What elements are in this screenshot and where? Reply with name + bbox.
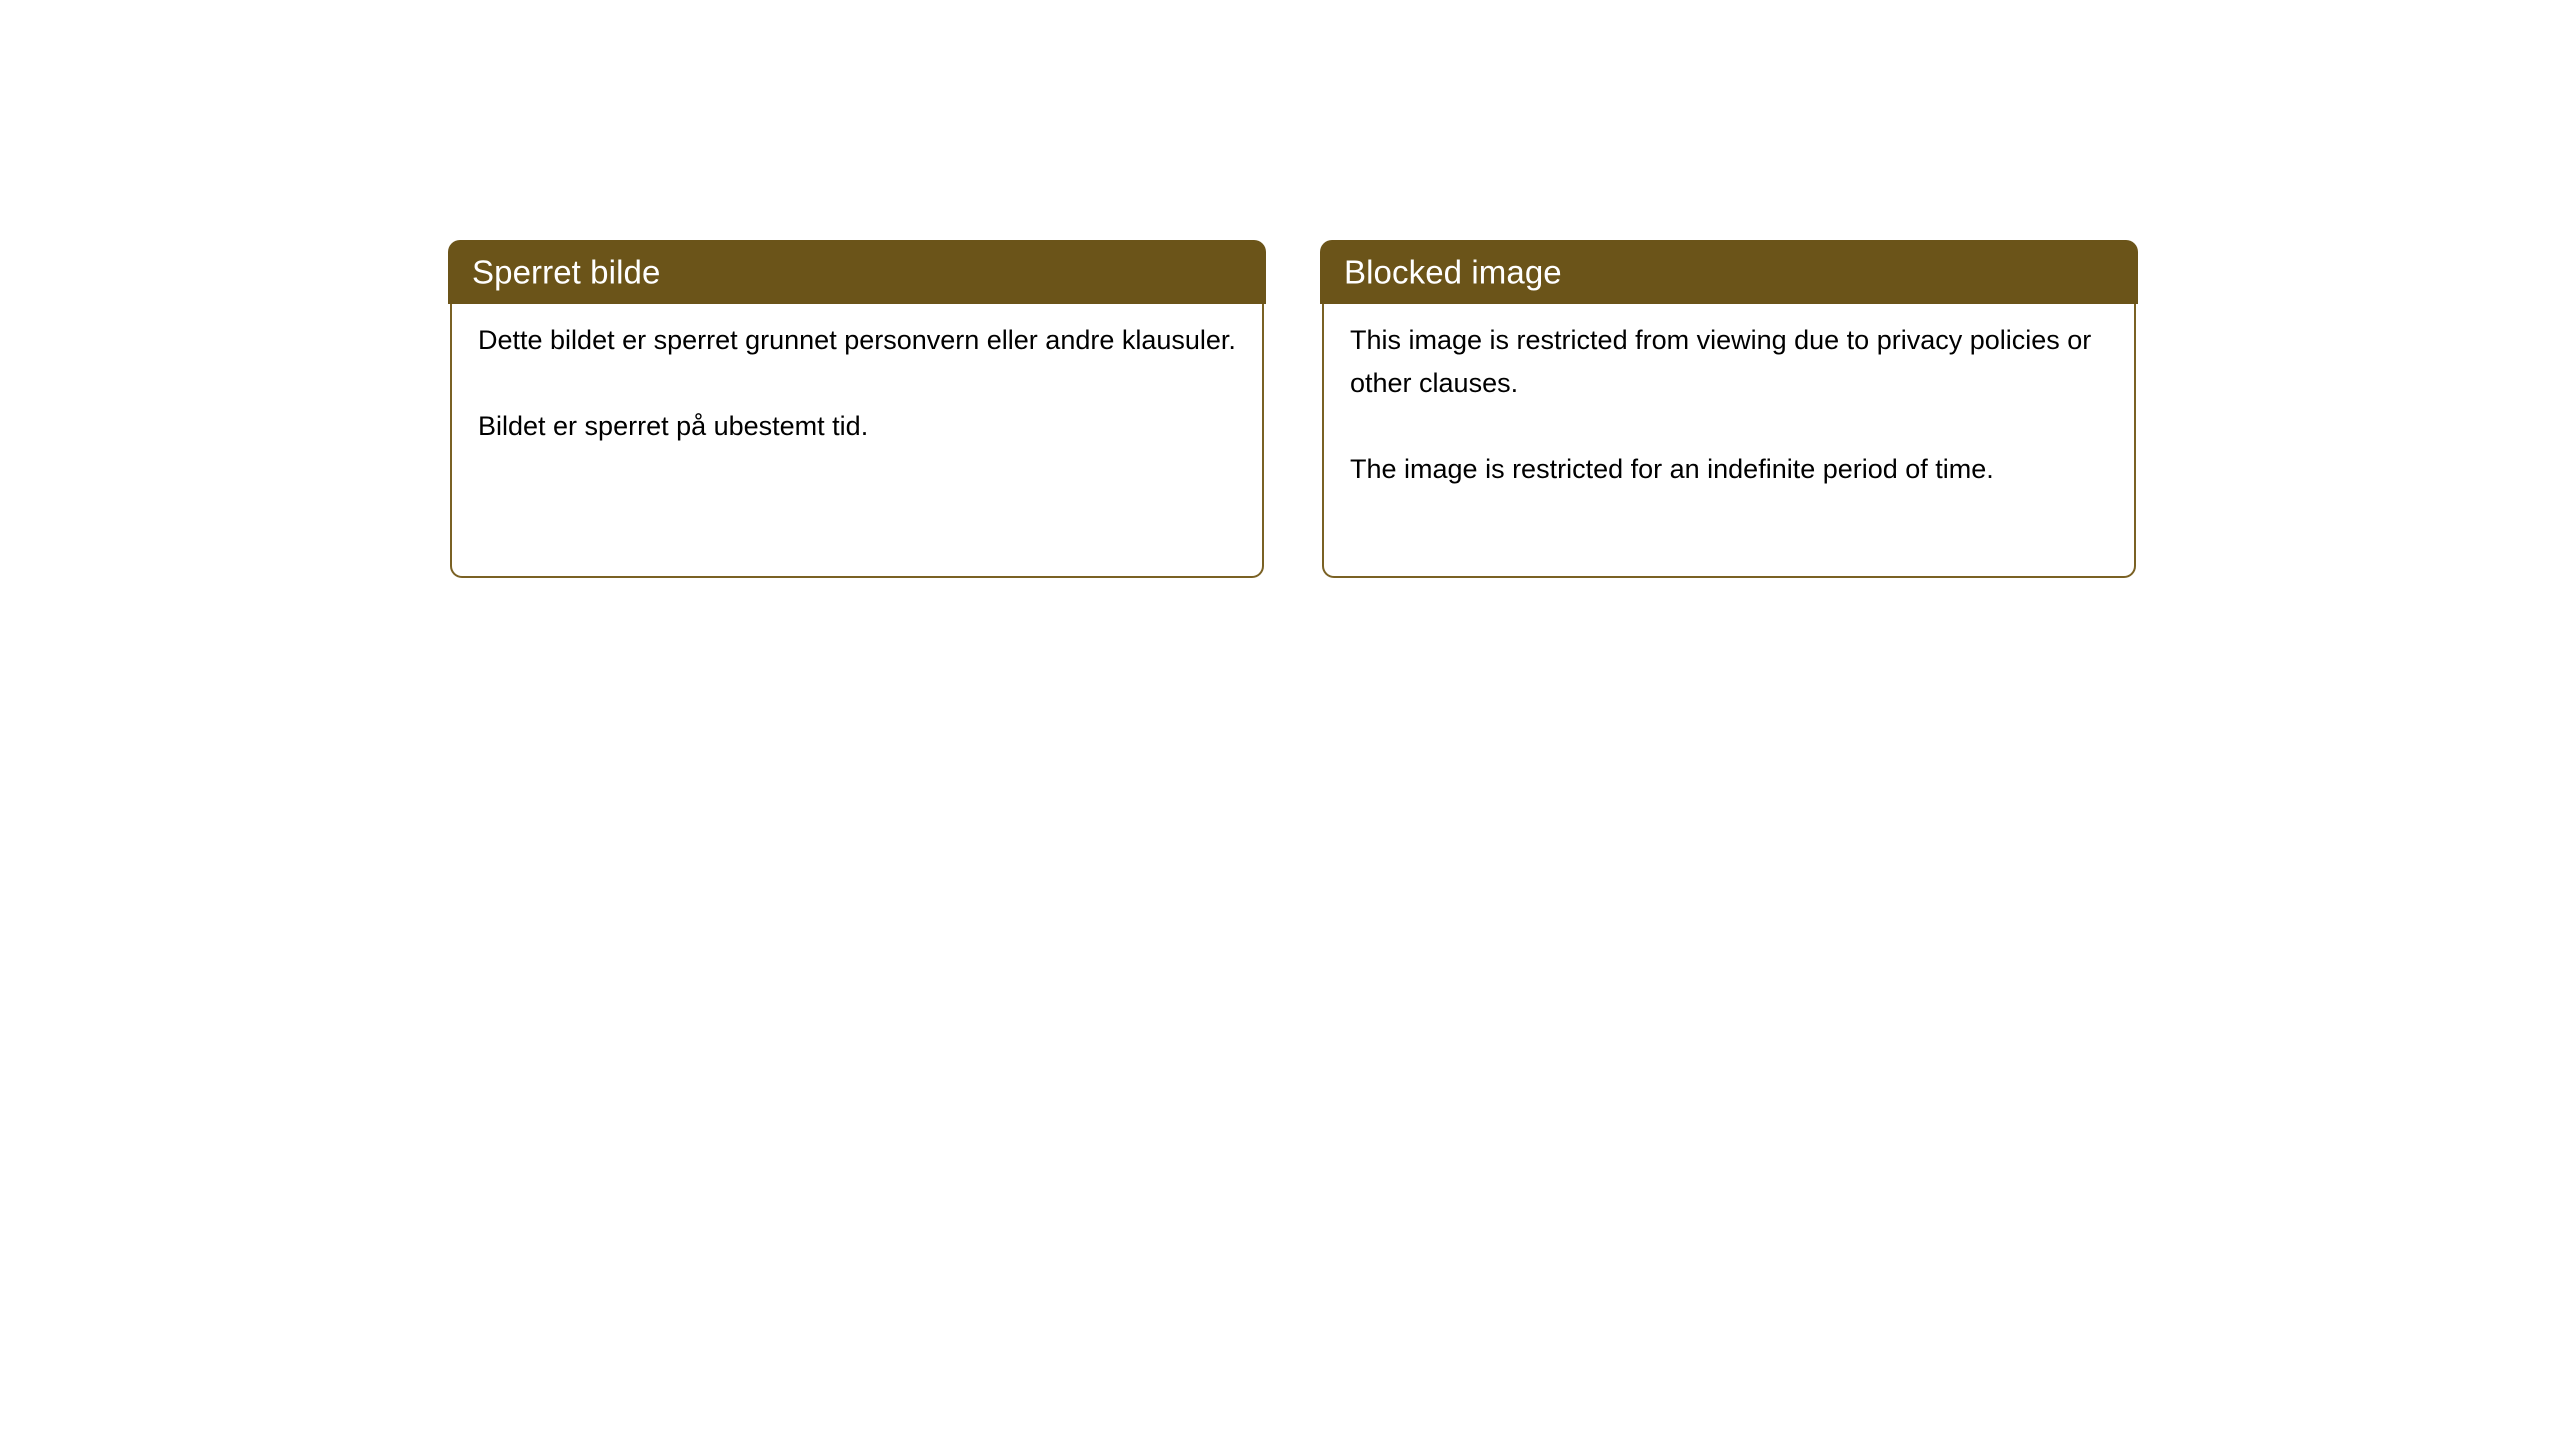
blocked-image-card-english: Blocked image This image is restricted f…: [1320, 240, 2138, 580]
page-canvas: Sperret bilde Dette bildet er sperret gr…: [0, 0, 2560, 1440]
card-paragraph-secondary-norwegian: Bildet er sperret på ubestemt tid.: [478, 405, 1246, 448]
card-body-english: This image is restricted from viewing du…: [1322, 302, 2136, 578]
card-paragraph-primary-norwegian: Dette bildet er sperret grunnet personve…: [478, 319, 1246, 362]
card-header-norwegian: Sperret bilde: [448, 240, 1266, 304]
card-title-norwegian: Sperret bilde: [472, 256, 660, 289]
card-title-english: Blocked image: [1344, 256, 1562, 289]
blocked-image-card-norwegian: Sperret bilde Dette bildet er sperret gr…: [448, 240, 1266, 580]
card-text-english: This image is restricted from viewing du…: [1350, 319, 2118, 491]
card-text-norwegian: Dette bildet er sperret grunnet personve…: [478, 319, 1246, 448]
card-paragraph-primary-english: This image is restricted from viewing du…: [1350, 319, 2118, 405]
card-body-norwegian: Dette bildet er sperret grunnet personve…: [450, 302, 1264, 578]
card-paragraph-secondary-english: The image is restricted for an indefinit…: [1350, 448, 2118, 491]
card-header-english: Blocked image: [1320, 240, 2138, 304]
